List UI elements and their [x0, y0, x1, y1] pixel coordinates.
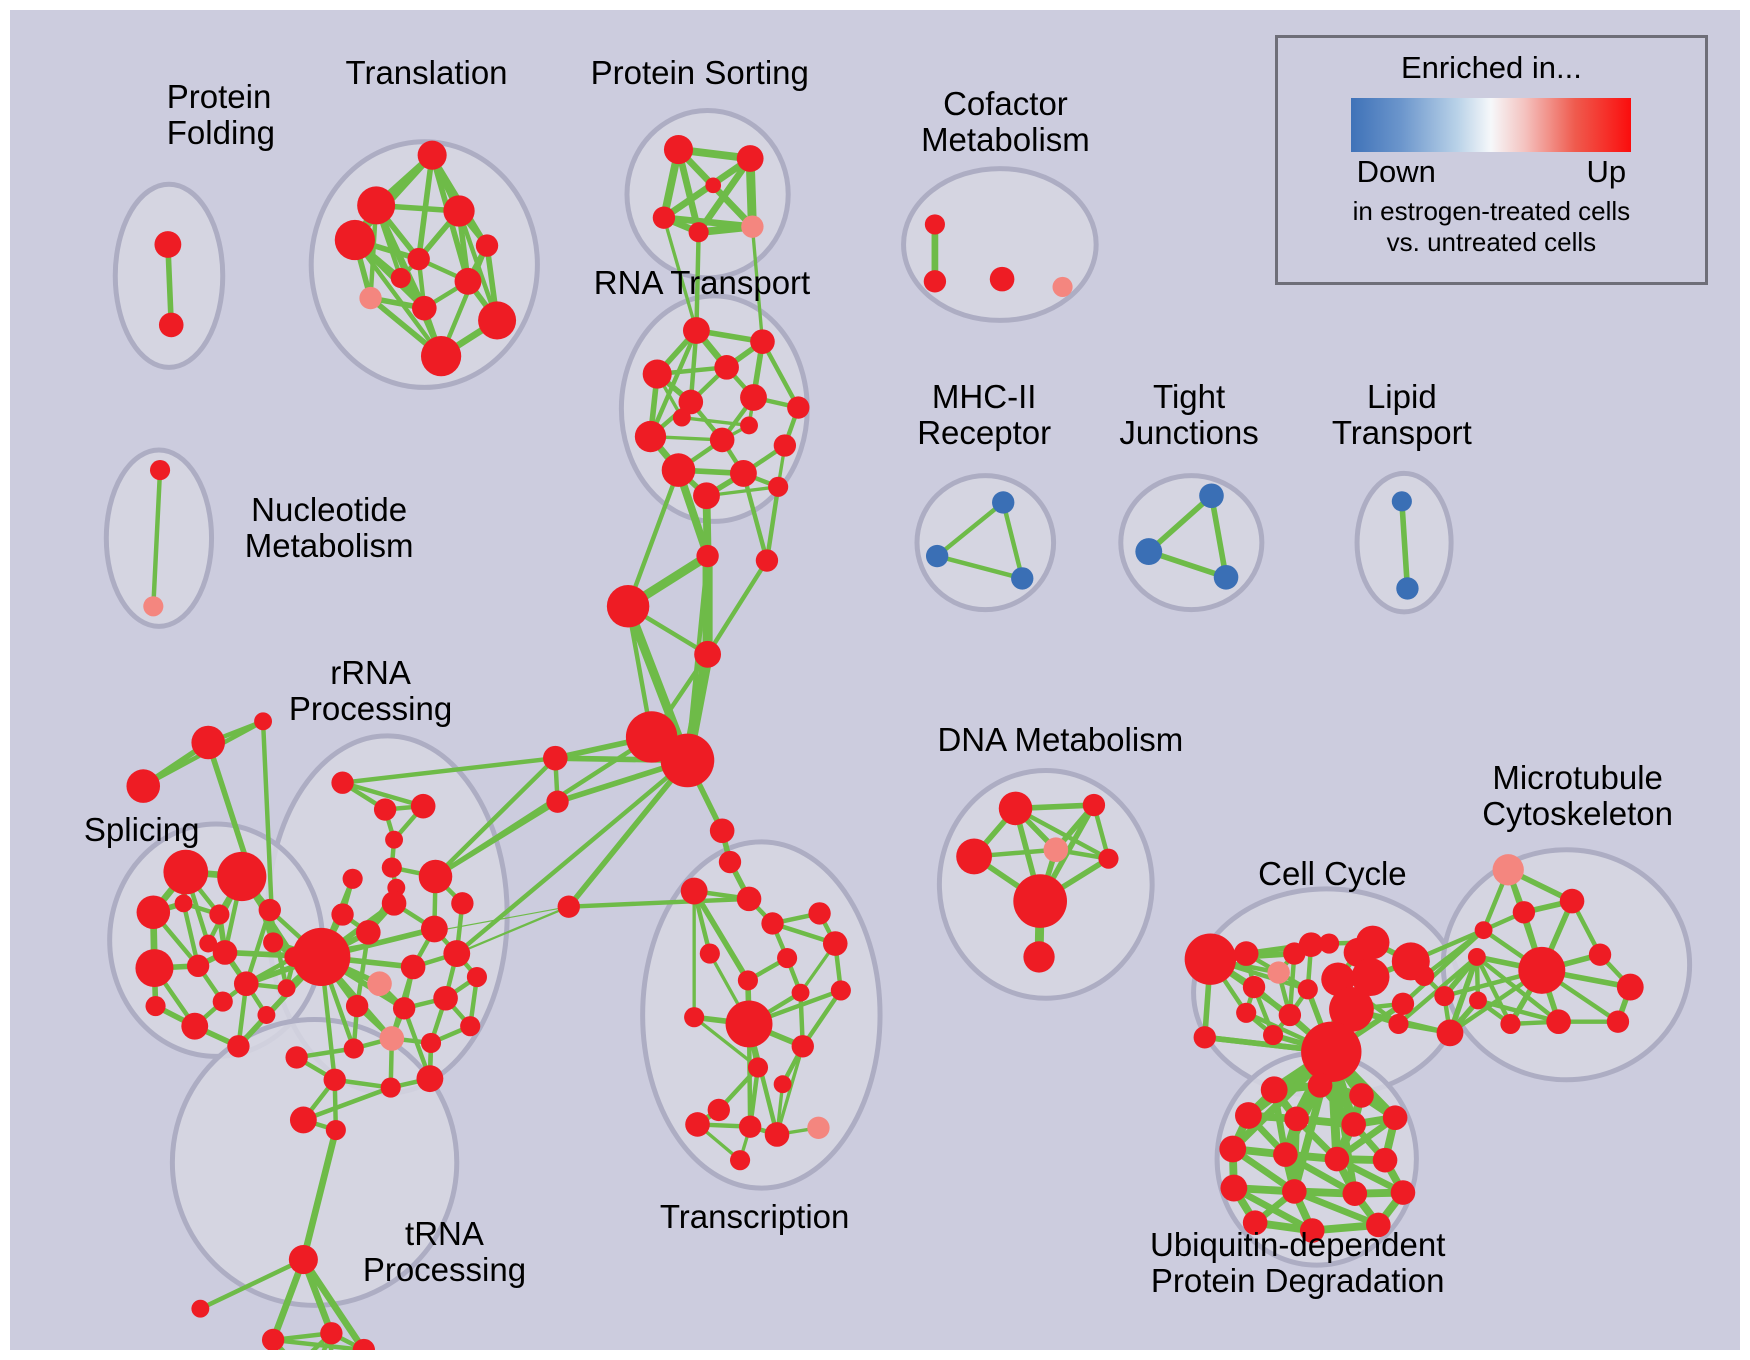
network-node[interactable] [808, 902, 830, 924]
network-node[interactable] [335, 220, 375, 260]
network-node[interactable] [1273, 1142, 1298, 1167]
network-node[interactable] [1023, 941, 1054, 972]
network-node[interactable] [761, 912, 783, 934]
network-node[interactable] [661, 734, 715, 788]
cluster-label-line: Cell Cycle [1258, 856, 1407, 892]
network-node[interactable] [1185, 933, 1236, 984]
network-node[interactable] [741, 215, 763, 237]
network-node[interactable] [694, 641, 721, 668]
network-node[interactable] [748, 1057, 768, 1077]
network-node[interactable] [1052, 277, 1072, 297]
network-node[interactable] [326, 1120, 346, 1140]
network-node[interactable] [653, 207, 675, 229]
network-node[interactable] [385, 831, 403, 849]
network-node[interactable] [343, 869, 363, 889]
network-node[interactable] [443, 940, 470, 967]
cluster-label-line: Cofactor [921, 86, 1090, 122]
network-node[interactable] [710, 818, 735, 843]
cluster-ellipse-protein-sorting [627, 111, 788, 279]
network-node[interactable] [777, 948, 797, 968]
network-node[interactable] [421, 336, 461, 376]
network-node[interactable] [1098, 849, 1118, 869]
network-node[interactable] [217, 852, 266, 901]
cluster-label-line: Metabolism [921, 122, 1090, 158]
network-node[interactable] [1011, 567, 1033, 589]
network-node[interactable] [163, 850, 208, 895]
network-node[interactable] [324, 1069, 346, 1091]
legend-box: Enriched in... Down Up in estrogen-treat… [1275, 35, 1707, 285]
network-node[interactable] [1414, 966, 1434, 986]
network-node[interactable] [344, 1038, 364, 1058]
network-node[interactable] [683, 317, 710, 344]
network-edge [708, 561, 767, 655]
network-node[interactable] [774, 434, 796, 456]
legend-caption-line2: vs. untreated cells [1278, 227, 1704, 258]
network-node[interactable] [234, 971, 259, 996]
network-node[interactable] [292, 928, 350, 986]
network-node[interactable] [684, 1007, 704, 1027]
network-node[interactable] [1513, 901, 1535, 923]
cluster-ellipse-mhc-ii-receptor [917, 476, 1054, 610]
network-node[interactable] [382, 858, 402, 878]
cluster-label-line: Processing [363, 1252, 526, 1288]
network-node[interactable] [926, 545, 948, 567]
network-node[interactable] [1194, 1026, 1216, 1048]
network-node[interactable] [416, 1065, 443, 1092]
cluster-label-mhc-ii-receptor: MHC-IIReceptor [917, 379, 1051, 451]
network-node[interactable] [1560, 889, 1585, 914]
cluster-label-line: Splicing [84, 812, 200, 848]
network-node[interactable] [418, 141, 447, 170]
network-node[interactable] [467, 967, 487, 987]
network-node[interactable] [1267, 961, 1289, 983]
cluster-label-line: Tight [1119, 379, 1258, 415]
network-node[interactable] [356, 920, 381, 945]
cluster-label-dna-metabolism: DNA Metabolism [937, 722, 1183, 758]
network-node[interactable] [159, 313, 184, 338]
network-node[interactable] [478, 301, 516, 339]
network-node[interactable] [1214, 565, 1239, 590]
network-node[interactable] [346, 995, 368, 1017]
network-node[interactable] [257, 1006, 275, 1024]
network-node[interactable] [213, 992, 233, 1012]
network-node[interactable] [708, 1099, 730, 1121]
network-node[interactable] [1617, 974, 1644, 1001]
cluster-label-line: tRNA [363, 1216, 526, 1252]
cluster-label-line: Processing [289, 691, 452, 727]
network-node[interactable] [774, 1075, 792, 1093]
network-node[interactable] [359, 287, 381, 309]
network-node[interactable] [150, 460, 170, 480]
figure-root: ProteinFoldingTranslationProtein Sorting… [0, 0, 1750, 1360]
legend-endpoint-labels: Down Up [1278, 154, 1704, 190]
network-node[interactable] [1392, 993, 1414, 1015]
network-node[interactable] [1607, 1011, 1629, 1033]
network-node[interactable] [1546, 1009, 1571, 1034]
network-node[interactable] [925, 214, 945, 234]
network-node[interactable] [408, 248, 430, 270]
network-node[interactable] [227, 1035, 249, 1057]
network-node[interactable] [693, 482, 720, 509]
network-node[interactable] [1383, 1105, 1408, 1130]
network-node[interactable] [1434, 986, 1454, 1006]
network-node[interactable] [924, 270, 946, 292]
network-node[interactable] [411, 794, 436, 819]
network-node[interactable] [1373, 1148, 1398, 1173]
network-node[interactable] [1263, 1025, 1283, 1045]
cluster-label-line: Translation [346, 55, 508, 91]
cluster-label-line: Transcription [660, 1199, 850, 1235]
network-node[interactable] [191, 726, 225, 760]
network-node[interactable] [710, 428, 735, 453]
network-node[interactable] [1341, 1112, 1366, 1137]
network-node[interactable] [1298, 979, 1318, 999]
network-node[interactable] [254, 712, 272, 730]
network-node[interactable] [1500, 1014, 1520, 1034]
network-node[interactable] [787, 396, 809, 418]
network-node[interactable] [1282, 1179, 1307, 1204]
network-node[interactable] [381, 1078, 401, 1098]
network-node[interactable] [181, 1013, 208, 1040]
network-node[interactable] [421, 916, 448, 943]
legend-title: Enriched in... [1278, 50, 1704, 86]
network-node[interactable] [374, 798, 396, 820]
network-node[interactable] [607, 585, 649, 627]
network-node[interactable] [380, 1026, 405, 1051]
network-node[interactable] [673, 409, 691, 427]
network-node[interactable] [546, 791, 568, 813]
network-node[interactable] [730, 1150, 750, 1170]
network-edge [569, 760, 688, 906]
network-node[interactable] [137, 895, 171, 929]
cluster-label-transcription: Transcription [660, 1199, 850, 1235]
network-node[interactable] [1349, 1083, 1374, 1108]
network-node[interactable] [737, 887, 762, 912]
network-node[interactable] [278, 979, 296, 997]
network-node[interactable] [792, 984, 810, 1002]
network-node[interactable] [714, 355, 739, 380]
network-node[interactable] [558, 896, 580, 918]
cluster-label-line: rRNA [289, 655, 452, 691]
network-node[interactable] [740, 416, 758, 434]
network-node[interactable] [1044, 837, 1069, 862]
network-node[interactable] [191, 1300, 209, 1318]
legend-high-label: Up [1587, 154, 1627, 190]
network-node[interactable] [175, 894, 193, 912]
cluster-label-rna-transport: RNA Transport [594, 265, 810, 301]
network-node[interactable] [455, 268, 482, 295]
network-node[interactable] [285, 1046, 307, 1068]
network-node[interactable] [1396, 577, 1418, 599]
network-node[interactable] [1469, 992, 1487, 1010]
cluster-label-protein-folding: ProteinFolding [167, 79, 275, 151]
legend-low-label: Down [1357, 154, 1436, 190]
network-node[interactable] [643, 359, 672, 388]
network-node[interactable] [1261, 1076, 1288, 1103]
network-node[interactable] [1308, 1073, 1333, 1098]
cluster-label-line: DNA Metabolism [937, 722, 1183, 758]
network-node[interactable] [685, 1112, 710, 1137]
network-node[interactable] [187, 955, 209, 977]
network-node[interactable] [1468, 948, 1486, 966]
network-node[interactable] [662, 453, 696, 487]
network-node[interactable] [664, 135, 693, 164]
network-node[interactable] [689, 222, 709, 242]
network-node[interactable] [451, 892, 473, 914]
network-node[interactable] [143, 596, 163, 616]
cluster-label-line: Protein [167, 79, 275, 115]
network-node[interactable] [737, 145, 764, 172]
network-node[interactable] [154, 231, 181, 258]
network-node[interactable] [739, 1115, 761, 1137]
cluster-label-line: Folding [167, 115, 275, 151]
network-node[interactable] [262, 1329, 284, 1350]
cluster-label-line: Protein Sorting [591, 55, 809, 91]
network-node[interactable] [768, 477, 788, 497]
network-node[interactable] [209, 904, 229, 924]
cluster-label-line: Nucleotide [245, 492, 414, 528]
network-node[interactable] [792, 1035, 814, 1057]
cluster-label-microtubule-cytoskeleton: MicrotubuleCytoskeleton [1482, 760, 1673, 832]
cluster-label-line: Transport [1332, 415, 1472, 451]
network-node[interactable] [823, 931, 848, 956]
network-node[interactable] [443, 195, 474, 226]
network-node[interactable] [476, 234, 498, 256]
cluster-label-line: Receptor [917, 415, 1051, 451]
network-node[interactable] [543, 746, 568, 771]
network-node[interactable] [1325, 1147, 1350, 1172]
network-node[interactable] [1279, 1004, 1301, 1026]
network-node[interactable] [1236, 1003, 1256, 1023]
cluster-label-lipid-transport: LipidTransport [1332, 379, 1472, 451]
network-node[interactable] [750, 329, 775, 354]
network-node[interactable] [1343, 1181, 1368, 1206]
network-node[interactable] [1493, 854, 1524, 885]
network-node[interactable] [1199, 483, 1224, 508]
cluster-label-ubiquitin-protein-degradation: Ubiquitin-dependentProtein Degradation [1150, 1227, 1445, 1299]
network-node[interactable] [726, 1000, 773, 1047]
network-node[interactable] [320, 1322, 342, 1344]
network-node[interactable] [263, 932, 283, 952]
network-node[interactable] [681, 878, 708, 905]
cluster-label-line: Ubiquitin-dependent [1150, 1227, 1445, 1263]
network-node[interactable] [1475, 921, 1493, 939]
network-node[interactable] [1234, 941, 1259, 966]
legend-color-bar [1351, 98, 1631, 152]
network-node[interactable] [393, 997, 415, 1019]
cluster-label-line: Microtubule [1482, 760, 1673, 796]
cluster-label-line: Protein Degradation [1150, 1263, 1445, 1299]
network-node[interactable] [738, 970, 758, 990]
cluster-label-protein-sorting: Protein Sorting [591, 55, 809, 91]
cluster-label-line: Cytoskeleton [1482, 796, 1673, 832]
network-node[interactable] [765, 1122, 790, 1147]
network-node[interactable] [635, 421, 666, 452]
cluster-label-line: RNA Transport [594, 265, 810, 301]
network-node[interactable] [1219, 1136, 1246, 1163]
network-node[interactable] [433, 986, 458, 1011]
network-node[interactable] [421, 1033, 441, 1053]
network-node[interactable] [1392, 491, 1412, 511]
network-node[interactable] [1235, 1102, 1262, 1129]
cluster-label-trna-processing: tRNAProcessing [363, 1216, 526, 1288]
network-node[interactable] [719, 851, 741, 873]
network-node[interactable] [1135, 538, 1162, 565]
legend-caption-line1: in estrogen-treated cells [1278, 196, 1704, 227]
network-node[interactable] [1589, 944, 1611, 966]
network-node[interactable] [290, 1107, 317, 1134]
cluster-label-translation: Translation [346, 55, 508, 91]
network-node[interactable] [807, 1117, 829, 1139]
network-node[interactable] [401, 955, 426, 980]
network-node[interactable] [331, 772, 353, 794]
cluster-label-cofactor-metabolism: CofactorMetabolism [921, 86, 1090, 158]
network-node[interactable] [1518, 947, 1565, 994]
network-node[interactable] [696, 545, 718, 567]
network-node[interactable] [956, 839, 992, 875]
cluster-label-rrna-processing: rRNAProcessing [289, 655, 452, 727]
network-node[interactable] [831, 980, 851, 1000]
network-node[interactable] [730, 460, 757, 487]
network-node[interactable] [1319, 933, 1339, 953]
network-node[interactable] [1284, 1107, 1309, 1132]
network-node[interactable] [382, 891, 407, 916]
network-node[interactable] [460, 1016, 480, 1036]
network-node[interactable] [391, 268, 411, 288]
network-node[interactable] [990, 267, 1015, 292]
cluster-label-line: MHC-II [917, 379, 1051, 415]
network-node[interactable] [1220, 1175, 1247, 1202]
legend-caption: in estrogen-treated cells vs. untreated … [1278, 196, 1704, 258]
network-node[interactable] [135, 949, 173, 987]
network-node[interactable] [357, 186, 395, 224]
network-node[interactable] [1283, 942, 1305, 964]
network-node[interactable] [740, 384, 767, 411]
network-node[interactable] [126, 769, 160, 803]
network-node[interactable] [705, 177, 721, 193]
cluster-label-line: Metabolism [245, 528, 414, 564]
network-node[interactable] [1437, 1019, 1464, 1046]
cluster-label-cell-cycle: Cell Cycle [1258, 856, 1407, 892]
network-node[interactable] [756, 549, 778, 571]
network-node[interactable] [700, 944, 720, 964]
cluster-label-splicing: Splicing [84, 812, 200, 848]
cluster-label-line: Lipid [1332, 379, 1472, 415]
network-node[interactable] [199, 935, 217, 953]
network-node[interactable] [999, 792, 1033, 826]
network-node[interactable] [1391, 1180, 1416, 1205]
network-node[interactable] [412, 296, 437, 321]
network-canvas: ProteinFoldingTranslationProtein Sorting… [10, 10, 1740, 1350]
network-node[interactable] [146, 996, 166, 1016]
network-node[interactable] [419, 860, 453, 894]
network-node[interactable] [1301, 1022, 1361, 1082]
network-node[interactable] [1388, 1014, 1408, 1034]
network-node[interactable] [1083, 794, 1105, 816]
cluster-label-nucleotide-metabolism: NucleotideMetabolism [245, 492, 414, 564]
network-node[interactable] [331, 903, 353, 925]
network-node[interactable] [1013, 874, 1067, 928]
network-node[interactable] [289, 1245, 318, 1274]
network-node[interactable] [259, 899, 281, 921]
network-node[interactable] [367, 971, 392, 996]
network-node[interactable] [992, 491, 1014, 513]
cluster-label-line: Junctions [1119, 415, 1258, 451]
cluster-label-tight-junctions: TightJunctions [1119, 379, 1258, 451]
network-node[interactable] [1243, 976, 1265, 998]
